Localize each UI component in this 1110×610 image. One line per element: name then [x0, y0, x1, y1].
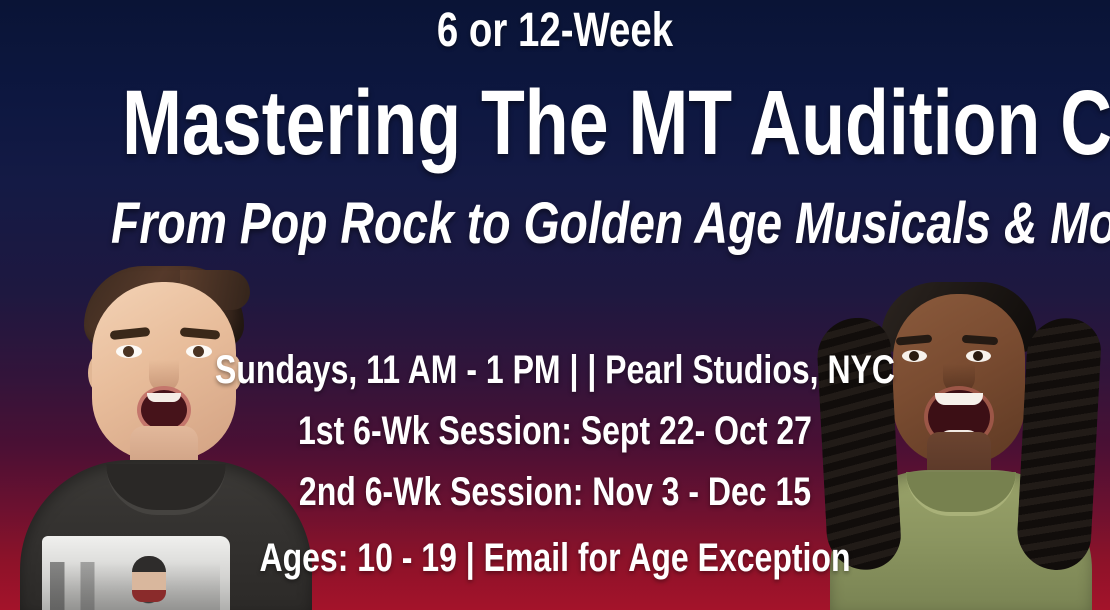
- poster-text-layer: 6 or 12-Week Mastering The MT Audition C…: [0, 0, 1110, 610]
- detail-line-ages: Ages: 10 - 19 | Email for Age Exception: [111, 528, 999, 588]
- detail-line-session-1: 1st 6-Wk Session: Sept 22- Oct 27: [111, 401, 999, 461]
- page-title: Mastering The MT Audition Class:: [122, 74, 988, 172]
- details-block: Sundays, 11 AM - 1 PM | | Pearl Studios,…: [0, 340, 1110, 588]
- detail-line-schedule: Sundays, 11 AM - 1 PM | | Pearl Studios,…: [111, 340, 999, 400]
- promo-poster: 6 or 12-Week Mastering The MT Audition C…: [0, 0, 1110, 610]
- subtitle-text: From Pop Rock to Golden Age Musicals & M…: [111, 192, 999, 256]
- detail-line-session-2: 2nd 6-Wk Session: Nov 3 - Dec 15: [111, 462, 999, 522]
- eyebrow-text: 6 or 12-Week: [111, 5, 999, 57]
